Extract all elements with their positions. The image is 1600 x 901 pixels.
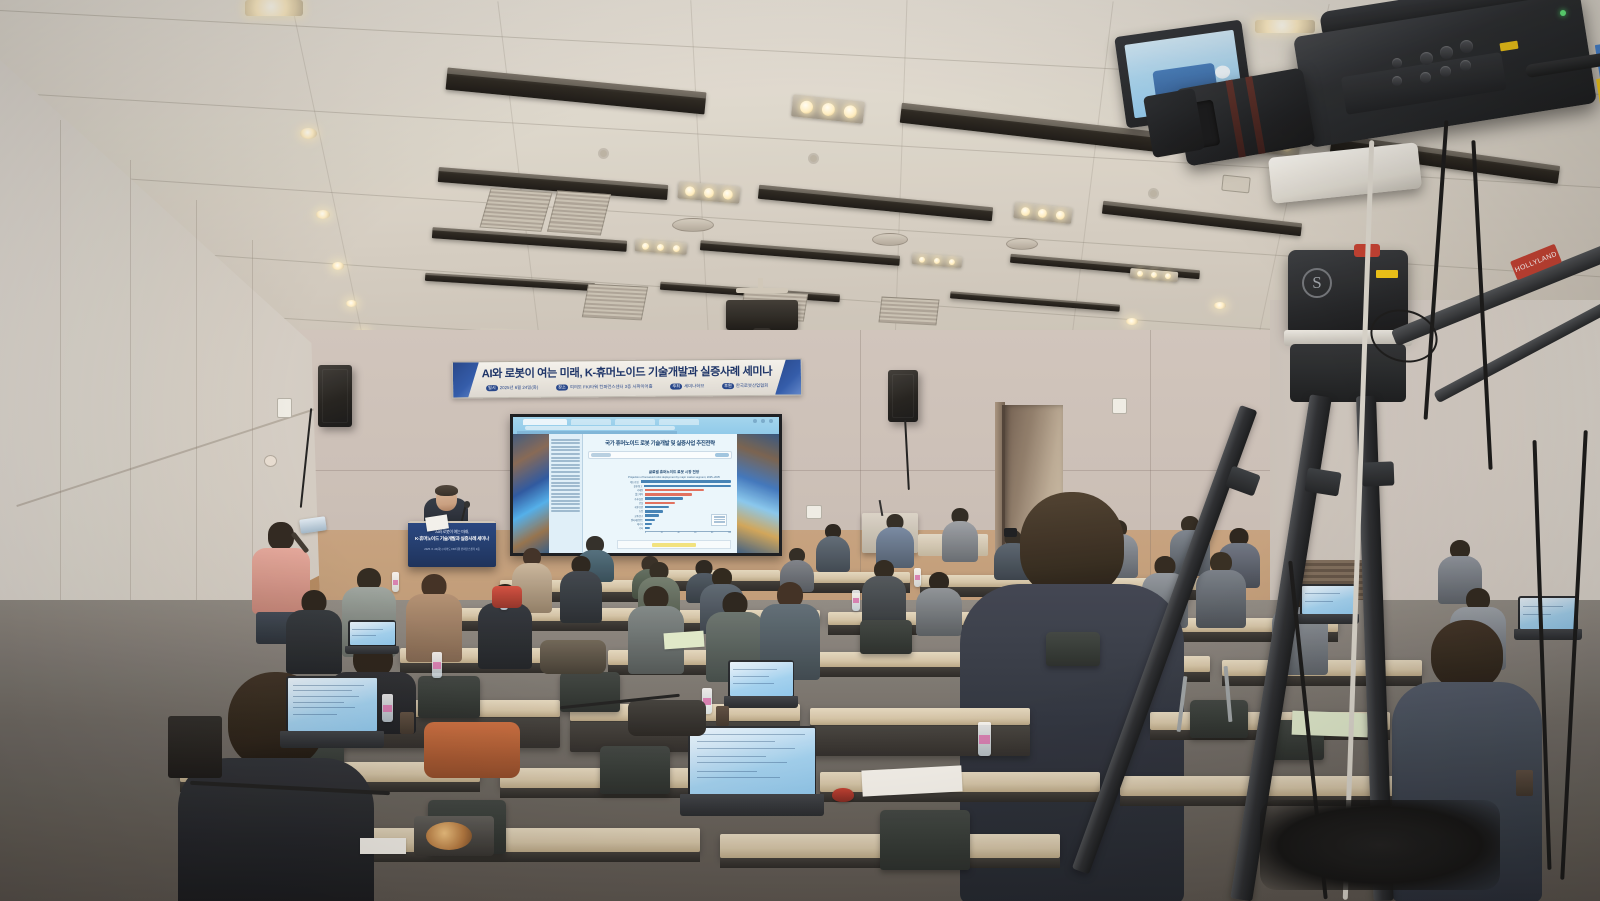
backpack: [540, 640, 606, 674]
banner-detail-tag: 주최: [670, 383, 682, 389]
camera-tally-light: [1560, 10, 1566, 16]
document-nav-item[interactable]: [551, 460, 580, 462]
document-nav-item[interactable]: [551, 485, 580, 487]
ceiling-light-trough: [438, 167, 668, 200]
ceiling-air-vent: [582, 284, 648, 321]
chart-bar-row: 건설: [617, 501, 731, 504]
document-nav-item[interactable]: [551, 475, 580, 477]
chart-x-tick: 20: [661, 532, 663, 534]
desk: [360, 828, 700, 852]
banner-corner-left: [453, 362, 479, 397]
chart-bar: [644, 485, 731, 487]
chart-bar-row: 리테일: [617, 489, 731, 492]
tripod-leg-lock[interactable]: [1362, 461, 1395, 486]
window-minimize-icon[interactable]: [753, 419, 757, 423]
laptop[interactable]: [688, 726, 816, 816]
chart-bar: [645, 510, 663, 512]
banner-detail-item: 후원 한국로봇산업협회: [722, 383, 768, 390]
camera-lens-hood: [1143, 88, 1205, 158]
document-title: 국가 휴머노이드 로봇 기술개발 및 실증사업 추진전략: [588, 439, 732, 447]
bag: [168, 716, 222, 778]
ceiling-air-vent: [479, 188, 552, 232]
handout: [360, 838, 406, 854]
tripod-tape-marker: [1376, 270, 1398, 278]
chair: [1046, 632, 1100, 666]
chart-legend: [711, 514, 727, 526]
browser-tab[interactable]: [571, 419, 611, 425]
laptop-sticker: [426, 822, 472, 850]
ceiling-air-diffuser: [872, 233, 908, 246]
water-bottle: [978, 722, 991, 756]
tripod-leg-lock[interactable]: [1225, 466, 1261, 497]
laptop[interactable]: [348, 620, 396, 654]
wall-outlet-panel[interactable]: [806, 505, 822, 519]
ceiling-light-trough: [446, 68, 707, 115]
banner-detail-item: 일시 2025년 6월 24일(화): [486, 385, 538, 392]
notebook: [663, 631, 704, 650]
ceiling-light-trough: [758, 185, 993, 221]
chair: [600, 746, 670, 794]
document-toolbar[interactable]: [588, 451, 732, 459]
attendee: [816, 524, 850, 570]
toolbar-right-control[interactable]: [715, 453, 729, 457]
ceiling-projector: [726, 300, 798, 330]
chart-bar-row: 헬스케어: [617, 493, 731, 496]
chair: [880, 810, 970, 870]
address-bar[interactable]: [525, 426, 675, 431]
camera-cable: [1424, 120, 1449, 420]
chart-bar: [645, 519, 655, 521]
banner-detail-tag: 일시: [486, 385, 498, 391]
event-banner: AI와 로봇이 여는 미래, K-휴머노이드 기술개발과 실증사례 세미나 일시…: [452, 358, 802, 398]
water-bottle: [852, 590, 860, 611]
attendee: [876, 514, 914, 566]
chart-x-ticks: 020406080100: [645, 532, 731, 534]
projection-screen: 국가 휴머노이드 로봇 기술개발 및 실증사업 추진전략 글로벌 휴머노이드 로…: [513, 417, 779, 553]
desk-modesty-panel: [810, 726, 1030, 756]
podium-banner-line2: K-휴머노이드 기술개발과 실증사례 세미나: [412, 536, 492, 542]
laptop[interactable]: [728, 660, 794, 708]
banner-detail-tag: 장소: [556, 384, 568, 390]
chart-x-tick: 40: [677, 532, 679, 534]
banner-corner-right: [775, 359, 801, 394]
window-close-icon[interactable]: [769, 419, 773, 423]
chart-bar: [645, 502, 675, 504]
podium-banner-line1: AI와 로봇이 여는 미래,: [412, 529, 492, 535]
tripod-leg-lock[interactable]: [1304, 467, 1341, 496]
mouse[interactable]: [832, 788, 854, 802]
tripod-quick-release-plate: [1268, 142, 1422, 203]
bag: [628, 700, 706, 736]
document-nav-item[interactable]: [551, 446, 580, 448]
chart-bar: [645, 506, 669, 508]
chart-bar: [645, 489, 704, 491]
coffee-cup: [400, 712, 414, 734]
chart-bar-row: 제조/조립: [617, 480, 731, 483]
bag: [492, 586, 522, 608]
chart-bar-row: 가사/돌봄: [617, 497, 731, 500]
presenter-hair: [435, 485, 458, 496]
chart-bar: [645, 493, 692, 495]
document-nav-item[interactable]: [551, 457, 580, 459]
camera-button[interactable]: [1392, 58, 1402, 68]
toolbar-left-control[interactable]: [591, 453, 611, 457]
attendee: [862, 560, 906, 626]
banner-detail-tag: 후원: [722, 383, 734, 389]
camera-button[interactable]: [1440, 66, 1451, 77]
chart-x-tick: 80: [711, 532, 713, 534]
camera-cable: [1560, 430, 1588, 880]
chart-title: 글로벌 휴머노이드 로봇 시장 전망: [617, 470, 731, 475]
chart-bar: [645, 523, 652, 525]
camera-button[interactable]: [1440, 46, 1453, 59]
attendee: [628, 586, 684, 672]
downlight: [332, 262, 344, 270]
chart-x-tick: 60: [694, 532, 696, 534]
water-bottle: [392, 572, 399, 592]
podium-banner-line3: 2025. 6. 24(화) | 여의도 FKI타워 컨퍼런스센터 3층: [412, 547, 492, 551]
document-nav-item[interactable]: [551, 464, 580, 466]
podium-top-surface: [408, 521, 496, 523]
chart-bar: [645, 514, 659, 516]
ceiling-spotlight-cluster: [1013, 202, 1072, 224]
podium: AI와 로봇이 여는 미래, K-휴머노이드 기술개발과 실증사례 세미나 20…: [408, 521, 496, 567]
banner-detail-text: 여의도 FKI타워 컨퍼런스센터 3층 사파이어홀: [570, 384, 653, 391]
ceiling-air-vent: [878, 297, 939, 326]
bag: [424, 722, 520, 778]
document-nav-item[interactable]: [551, 493, 580, 495]
water-bottle: [914, 568, 921, 587]
projection-screen-frame: 국가 휴머노이드 로봇 기술개발 및 실증사업 추진전략 글로벌 휴머노이드 로…: [510, 414, 782, 556]
document-nav-item[interactable]: [551, 467, 580, 469]
attendee: [916, 572, 962, 634]
camera-tape-marker: [1596, 77, 1600, 105]
wall-emergency-light: [264, 455, 277, 467]
banner-headline: AI와 로봇이 여는 미래, K-휴머노이드 기술개발과 실증사례 세미나: [481, 363, 773, 381]
chart-subtitle: Projection of humanoid robot deployment …: [617, 476, 731, 479]
camera-button[interactable]: [1460, 60, 1471, 71]
ceiling-spotlight-cluster: [912, 253, 963, 268]
tripod-brand-mark: S: [1302, 268, 1332, 298]
podium-microphone: [464, 501, 470, 508]
laptop[interactable]: [286, 676, 378, 748]
banner-details: 일시 2025년 6월 24일(화) 장소 여의도 FKI타워 컨퍼런스센터 3…: [479, 380, 775, 395]
downlight: [346, 300, 357, 307]
wall-speaker-left: [318, 365, 352, 427]
chart-bar: [645, 527, 650, 529]
camera-button[interactable]: [1460, 40, 1473, 53]
footer-highlight: [652, 543, 696, 547]
camera-button[interactable]: [1392, 76, 1402, 86]
ceiling-spotlight-cluster: [791, 94, 865, 123]
banner-detail-item: 주최 세미나허브: [670, 383, 704, 389]
document-nav-item[interactable]: [551, 439, 580, 441]
chart-bar-row: 기타: [617, 527, 731, 530]
desk: [810, 708, 1030, 725]
seminar-room-photo: AI와 로봇이 여는 미래, K-휴머노이드 기술개발과 실증사례 세미나 일시…: [0, 0, 1600, 901]
water-bottle: [382, 694, 393, 722]
document-footer: [617, 540, 731, 549]
banner-detail-text: 2025년 6월 24일(화): [500, 385, 539, 391]
screen-right-image-panel: [737, 434, 779, 553]
chart-bar: [641, 480, 732, 482]
document-nav-item[interactable]: [551, 510, 580, 512]
downlight: [316, 210, 330, 219]
chart-bar-row: 물류/창고: [617, 484, 731, 487]
document-nav-item[interactable]: [551, 482, 580, 484]
document-nav-item[interactable]: [551, 507, 580, 509]
chart-x-tick: 0: [645, 532, 646, 534]
cable-pile: [1260, 800, 1500, 890]
ceiling-light-trough: [700, 240, 900, 266]
ceiling-spotlight-cluster: [635, 239, 688, 255]
chair: [418, 676, 480, 718]
attendee: [560, 556, 602, 622]
browser-tab[interactable]: [659, 419, 699, 425]
window-maximize-icon[interactable]: [761, 419, 765, 423]
banner-detail-item: 장소 여의도 FKI타워 컨퍼런스센터 3층 사파이어홀: [556, 384, 653, 391]
document-nav-item[interactable]: [551, 442, 580, 444]
screen-left-image-panel: [513, 434, 549, 553]
camera-rig: S HOLLYLAND: [1120, 0, 1600, 901]
chart-bar-row: 국방/보안: [617, 506, 731, 509]
ceiling-air-diffuser: [1006, 238, 1038, 250]
camera-button[interactable]: [1420, 52, 1433, 65]
ceiling-spotlight-cluster: [677, 181, 740, 203]
document-nav-item[interactable]: [551, 471, 580, 473]
document-nav-item[interactable]: [551, 489, 580, 491]
banner-detail-text: 세미나허브: [684, 383, 704, 389]
document-nav-item[interactable]: [551, 496, 580, 498]
chart-bar-row: 농업: [617, 510, 731, 513]
chart-bar: [645, 497, 683, 499]
camera-button[interactable]: [1420, 72, 1431, 83]
document-nav-item[interactable]: [551, 503, 580, 505]
chart-x-tick: 100: [728, 532, 731, 534]
ceiling-air-diffuser: [672, 218, 714, 232]
wall-control-panel[interactable]: [277, 398, 292, 418]
coffee-cup: [716, 706, 729, 726]
browser-tab[interactable]: [523, 419, 567, 425]
water-bottle: [432, 652, 442, 678]
banner-detail-text: 한국로봇산업협회: [736, 383, 768, 389]
camera-cable: [1532, 440, 1551, 870]
handout: [861, 765, 962, 796]
slide-bar-chart: 글로벌 휴머노이드 로봇 시장 전망 Projection of humanoi…: [617, 470, 731, 532]
chart-bar-label: 기타: [617, 526, 645, 530]
wall-speaker-right: [888, 370, 918, 422]
projector-mount-pole: [758, 278, 763, 292]
browser-chrome: [513, 417, 779, 435]
ceiling-air-vent: [547, 190, 611, 235]
chair: [860, 620, 912, 654]
browser-tab[interactable]: [615, 419, 655, 425]
document-nav-item[interactable]: [551, 449, 580, 451]
document-nav-item[interactable]: [551, 478, 580, 480]
document-nav-item[interactable]: [551, 453, 580, 455]
document-nav-item[interactable]: [551, 500, 580, 502]
